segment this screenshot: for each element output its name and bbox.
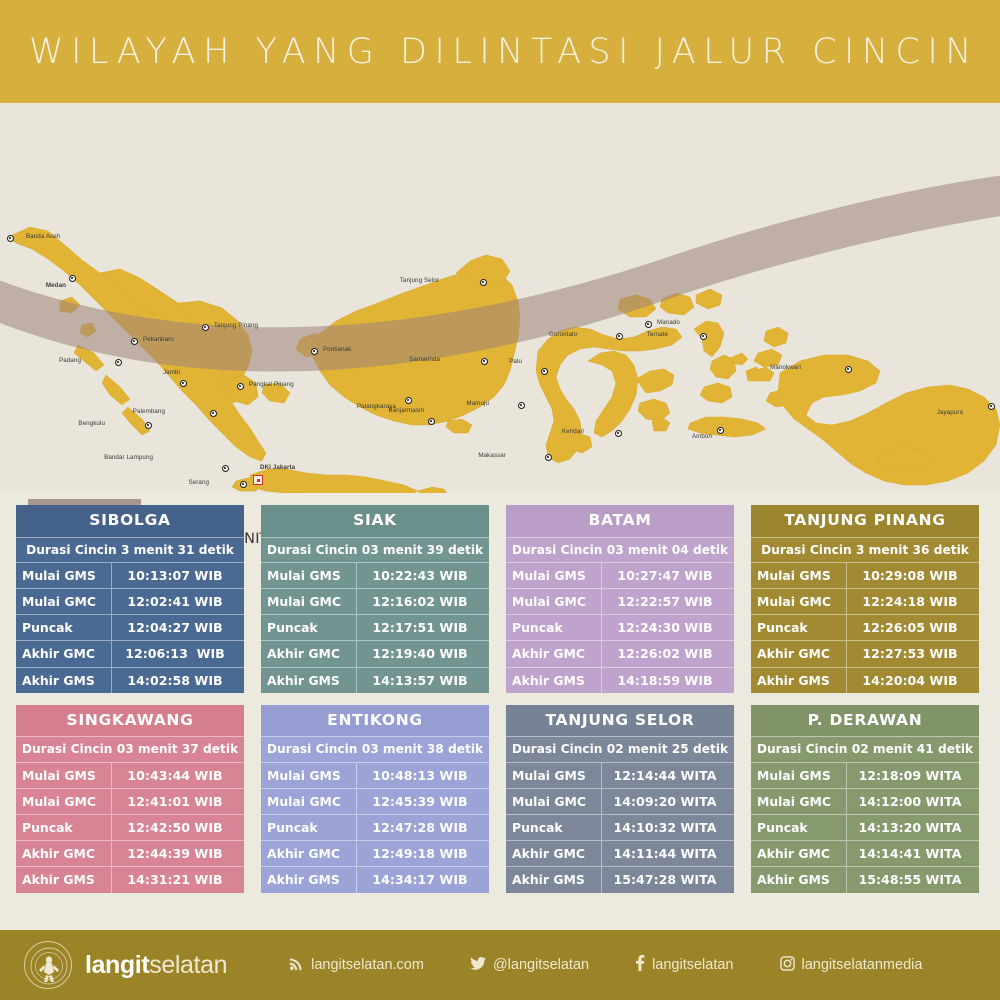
city-timing-card: TANJUNG SELORDurasi Cincin 02 menit 25 d… bbox=[506, 705, 734, 893]
card-row-value: 14:34:17 WIB bbox=[356, 867, 489, 892]
card-row-value: 14:13:57 WIB bbox=[356, 668, 489, 693]
city-marker bbox=[180, 380, 187, 387]
card-row: Akhir GMS15:48:55 WITA bbox=[751, 866, 979, 892]
card-row-value: 14:09:20 WITA bbox=[601, 789, 734, 814]
card-row: Akhir GMS14:31:21 WIB bbox=[16, 866, 244, 892]
city-label: Ternate bbox=[647, 332, 668, 338]
card-row-value: 14:18:59 WIB bbox=[601, 668, 734, 693]
social-link-rss[interactable]: langitselatan.com bbox=[289, 956, 424, 975]
card-row: Puncak12:47:28 WIB bbox=[261, 814, 489, 840]
card-row-label: Puncak bbox=[506, 815, 601, 840]
card-row-label: Akhir GMC bbox=[16, 641, 111, 666]
city-label: Samarinda bbox=[409, 357, 440, 363]
card-duration: Durasi Cincin 3 menit 36 detik bbox=[751, 537, 979, 562]
page-footer: langitselatan langitselatan.com@langitse… bbox=[0, 930, 1000, 1000]
card-row-label: Akhir GMC bbox=[506, 641, 601, 666]
card-row-value: 12:04:27 WIB bbox=[111, 615, 244, 640]
card-row-value: 10:13:07 WIB bbox=[111, 563, 244, 588]
city-marker bbox=[131, 338, 138, 345]
card-row-value: 12:14:44 WITA bbox=[601, 763, 734, 788]
city-label: Jayapura bbox=[937, 410, 963, 416]
seal-icon bbox=[25, 942, 73, 990]
card-row-value: 14:13:20 WITA bbox=[846, 815, 979, 840]
card-row: Puncak14:13:20 WITA bbox=[751, 814, 979, 840]
city-label: Pekanbaru bbox=[143, 337, 174, 343]
city-marker bbox=[616, 333, 623, 340]
instagram-icon bbox=[780, 956, 795, 975]
card-row: Akhir GMC12:44:39 WIB bbox=[16, 840, 244, 866]
card-row: Mulai GMS12:18:09 WITA bbox=[751, 762, 979, 788]
card-duration: Durasi Cincin 02 menit 41 detik bbox=[751, 736, 979, 761]
card-row: Akhir GMS14:18:59 WIB bbox=[506, 667, 734, 693]
card-row-label: Mulai GMC bbox=[16, 789, 111, 814]
city-label: Medan bbox=[46, 283, 66, 289]
indonesia-map: Banda AcehMedanPekanbaruPadangTanjung Pi… bbox=[0, 103, 1000, 493]
card-row: Akhir GMS14:20:04 WIB bbox=[751, 667, 979, 693]
city-marker bbox=[7, 235, 14, 242]
city-label: Manokwari bbox=[770, 365, 801, 371]
city-marker bbox=[428, 418, 435, 425]
card-row-value: 14:14:41 WITA bbox=[846, 841, 979, 866]
social-links: langitselatan.com@langitselatanlangitsel… bbox=[289, 955, 922, 975]
logo-main-text: langit bbox=[85, 951, 149, 979]
card-row: Akhir GMC14:11:44 WITA bbox=[506, 840, 734, 866]
city-timing-card: P. DERAWANDurasi Cincin 02 menit 41 deti… bbox=[751, 705, 979, 893]
card-row-label: Akhir GMS bbox=[751, 867, 846, 892]
card-row-value: 12:22:57 WIB bbox=[601, 589, 734, 614]
city-label: Bengkulu bbox=[78, 421, 105, 427]
card-row-value: 14:02:58 WIB bbox=[111, 668, 244, 693]
city-marker bbox=[405, 397, 412, 404]
card-row: Puncak12:24:30 WIB bbox=[506, 614, 734, 640]
card-row-label: Akhir GMS bbox=[261, 867, 356, 892]
card-row-value: 12:19:40 WIB bbox=[356, 641, 489, 666]
card-row-value: 12:24:30 WIB bbox=[601, 615, 734, 640]
card-row: Mulai GMC12:16:02 WIB bbox=[261, 588, 489, 614]
card-row-label: Mulai GMS bbox=[261, 763, 356, 788]
logo-sub-text: selatan bbox=[149, 951, 227, 979]
city-label: Mamuju bbox=[466, 401, 489, 407]
capital-marker-dki-jakarta bbox=[253, 475, 263, 485]
city-label: Pontianak bbox=[323, 347, 351, 353]
card-row-label: Akhir GMC bbox=[16, 841, 111, 866]
city-marker bbox=[237, 383, 244, 390]
card-row-label: Mulai GMS bbox=[506, 563, 601, 588]
card-row: Akhir GMS14:02:58 WIB bbox=[16, 667, 244, 693]
card-row-value: 15:47:28 WITA bbox=[601, 867, 734, 892]
card-row: Mulai GMC12:41:01 WIB bbox=[16, 788, 244, 814]
card-row-value: 12:06:13 WIB bbox=[111, 641, 244, 666]
city-marker bbox=[145, 422, 152, 429]
social-link-label: langitselatanmedia bbox=[802, 957, 923, 973]
city-marker bbox=[988, 403, 995, 410]
card-row-value: 12:02:41 WIB bbox=[111, 589, 244, 614]
social-link-instagram[interactable]: langitselatanmedia bbox=[780, 956, 923, 975]
card-row: Akhir GMS14:34:17 WIB bbox=[261, 866, 489, 892]
page-title: WILAYAH YANG DILINTASI JALUR CINCIN bbox=[21, 32, 979, 72]
card-row-label: Puncak bbox=[16, 615, 111, 640]
card-row: Akhir GMS14:13:57 WIB bbox=[261, 667, 489, 693]
rss-icon bbox=[289, 956, 304, 975]
city-label: Ambon bbox=[692, 434, 712, 440]
city-label: DKI Jakarta bbox=[260, 465, 295, 471]
city-marker bbox=[700, 333, 707, 340]
card-duration: Durasi Cincin 03 menit 39 detik bbox=[261, 537, 489, 562]
city-label: Palembang bbox=[133, 409, 165, 415]
card-row-label: Akhir GMS bbox=[506, 668, 601, 693]
card-row-label: Mulai GMC bbox=[506, 789, 601, 814]
card-row-value: 10:27:47 WIB bbox=[601, 563, 734, 588]
city-marker bbox=[615, 430, 622, 437]
card-row: Akhir GMC12:49:18 WIB bbox=[261, 840, 489, 866]
card-row-value: 10:29:08 WIB bbox=[846, 563, 979, 588]
card-title: SIAK bbox=[261, 505, 489, 537]
card-row: Mulai GMC14:09:20 WITA bbox=[506, 788, 734, 814]
city-marker bbox=[518, 402, 525, 409]
card-row-label: Puncak bbox=[261, 815, 356, 840]
card-row: Akhir GMC12:06:13 WIB bbox=[16, 640, 244, 666]
card-row-label: Akhir GMC bbox=[506, 841, 601, 866]
city-marker bbox=[541, 368, 548, 375]
langitselatan-seal-logo bbox=[24, 941, 72, 989]
card-row: Mulai GMS10:43:44 WIB bbox=[16, 762, 244, 788]
city-timing-card: SIAKDurasi Cincin 03 menit 39 detikMulai… bbox=[261, 505, 489, 693]
city-marker bbox=[69, 275, 76, 282]
social-link-label: langitselatan.com bbox=[311, 957, 424, 973]
city-timing-card: SIBOLGADurasi Cincin 3 menit 31 detikMul… bbox=[16, 505, 244, 693]
city-label: Tanjung Pinang bbox=[214, 323, 258, 329]
card-duration: Durasi Cincin 03 menit 04 detik bbox=[506, 537, 734, 562]
card-title: BATAM bbox=[506, 505, 734, 537]
card-row-label: Mulai GMS bbox=[506, 763, 601, 788]
card-title: ENTIKONG bbox=[261, 705, 489, 737]
card-title: SINGKAWANG bbox=[16, 705, 244, 737]
city-label: Padang bbox=[59, 358, 81, 364]
city-marker bbox=[545, 454, 552, 461]
city-marker bbox=[311, 348, 318, 355]
card-row-value: 14:31:21 WIB bbox=[111, 867, 244, 892]
card-title: TANJUNG SELOR bbox=[506, 705, 734, 737]
card-duration: Durasi Cincin 02 menit 25 detik bbox=[506, 736, 734, 761]
city-label: Serang bbox=[188, 480, 209, 486]
card-title: SIBOLGA bbox=[16, 505, 244, 537]
social-link-twitter[interactable]: @langitselatan bbox=[470, 956, 589, 975]
card-row-label: Akhir GMC bbox=[261, 641, 356, 666]
card-title: TANJUNG PINANG bbox=[751, 505, 979, 537]
card-row: Mulai GMS10:27:47 WIB bbox=[506, 562, 734, 588]
page-header: WILAYAH YANG DILINTASI JALUR CINCIN bbox=[0, 0, 1000, 103]
card-row-label: Akhir GMS bbox=[16, 867, 111, 892]
facebook-icon bbox=[635, 955, 645, 975]
card-row: Akhir GMC12:19:40 WIB bbox=[261, 640, 489, 666]
card-row: Akhir GMC12:26:02 WIB bbox=[506, 640, 734, 666]
card-row-label: Puncak bbox=[506, 615, 601, 640]
infographic-page: WILAYAH YANG DILINTASI JALUR CINCIN bbox=[0, 0, 1000, 1000]
card-row-label: Mulai GMC bbox=[506, 589, 601, 614]
city-label: Bandar Lampung bbox=[104, 455, 153, 461]
langitselatan-wordmark: langitselatan bbox=[85, 951, 227, 980]
city-marker bbox=[202, 324, 209, 331]
card-row: Akhir GMS15:47:28 WITA bbox=[506, 866, 734, 892]
card-row-label: Mulai GMC bbox=[751, 589, 846, 614]
card-row-value: 12:27:53 WIB bbox=[846, 641, 979, 666]
city-label: Jambi bbox=[163, 370, 180, 376]
card-row-value: 12:24:18 WIB bbox=[846, 589, 979, 614]
card-row: Mulai GMC12:02:41 WIB bbox=[16, 588, 244, 614]
card-duration: Durasi Cincin 03 menit 38 detik bbox=[261, 736, 489, 761]
card-row: Puncak14:10:32 WITA bbox=[506, 814, 734, 840]
card-row-value: 10:22:43 WIB bbox=[356, 563, 489, 588]
city-marker bbox=[210, 410, 217, 417]
social-link-facebook[interactable]: langitselatan bbox=[635, 955, 733, 975]
card-row-value: 12:49:18 WIB bbox=[356, 841, 489, 866]
card-row-label: Akhir GMC bbox=[261, 841, 356, 866]
city-label: Manado bbox=[657, 320, 680, 326]
card-row-label: Puncak bbox=[751, 815, 846, 840]
card-row-label: Mulai GMS bbox=[751, 563, 846, 588]
city-marker bbox=[845, 366, 852, 373]
city-marker bbox=[240, 481, 247, 488]
card-row-value: 12:45:39 WIB bbox=[356, 789, 489, 814]
card-row-label: Mulai GMS bbox=[16, 563, 111, 588]
city-marker bbox=[717, 427, 724, 434]
card-row-value: 12:44:39 WIB bbox=[111, 841, 244, 866]
map-graphic bbox=[0, 103, 1000, 493]
card-row-value: 12:41:01 WIB bbox=[111, 789, 244, 814]
card-row: Puncak12:42:50 WIB bbox=[16, 814, 244, 840]
card-row: Mulai GMC12:45:39 WIB bbox=[261, 788, 489, 814]
card-row-value: 14:12:00 WITA bbox=[846, 789, 979, 814]
card-row: Mulai GMS12:14:44 WITA bbox=[506, 762, 734, 788]
card-row-label: Akhir GMS bbox=[506, 867, 601, 892]
city-label: Makassar bbox=[478, 453, 506, 459]
card-row: Mulai GMS10:29:08 WIB bbox=[751, 562, 979, 588]
card-row-value: 10:48:13 WIB bbox=[356, 763, 489, 788]
card-row-label: Akhir GMC bbox=[751, 641, 846, 666]
social-link-label: @langitselatan bbox=[493, 957, 589, 973]
card-row-value: 12:17:51 WIB bbox=[356, 615, 489, 640]
card-duration: Durasi Cincin 3 menit 31 detik bbox=[16, 537, 244, 562]
city-marker bbox=[222, 465, 229, 472]
city-timing-card: TANJUNG PINANGDurasi Cincin 3 menit 36 d… bbox=[751, 505, 979, 693]
city-timing-card: SINGKAWANGDurasi Cincin 03 menit 37 deti… bbox=[16, 705, 244, 893]
card-row: Mulai GMS10:22:43 WIB bbox=[261, 562, 489, 588]
card-row-label: Akhir GMS bbox=[261, 668, 356, 693]
city-label: Tanjung Selor bbox=[400, 278, 439, 284]
card-row-value: 12:42:50 WIB bbox=[111, 815, 244, 840]
card-row-label: Mulai GMS bbox=[751, 763, 846, 788]
card-row-label: Puncak bbox=[261, 615, 356, 640]
city-marker bbox=[480, 279, 487, 286]
card-row-label: Mulai GMS bbox=[16, 763, 111, 788]
card-row-value: 12:26:05 WIB bbox=[846, 615, 979, 640]
card-row-value: 12:18:09 WITA bbox=[846, 763, 979, 788]
city-timing-card: BATAMDurasi Cincin 03 menit 04 detikMula… bbox=[506, 505, 734, 693]
card-row-label: Mulai GMC bbox=[751, 789, 846, 814]
city-marker bbox=[115, 359, 122, 366]
card-row: Mulai GMC14:12:00 WITA bbox=[751, 788, 979, 814]
card-row-label: Mulai GMC bbox=[261, 789, 356, 814]
card-title: P. DERAWAN bbox=[751, 705, 979, 737]
card-row-value: 14:10:32 WITA bbox=[601, 815, 734, 840]
card-row: Mulai GMC12:24:18 WIB bbox=[751, 588, 979, 614]
card-row-label: Akhir GMS bbox=[751, 668, 846, 693]
card-row: Puncak12:26:05 WIB bbox=[751, 614, 979, 640]
card-row-value: 12:47:28 WIB bbox=[356, 815, 489, 840]
city-label: Gorontalo bbox=[549, 332, 577, 338]
city-timing-cards: SIBOLGADurasi Cincin 3 menit 31 detikMul… bbox=[16, 505, 984, 893]
card-row: Mulai GMS10:13:07 WIB bbox=[16, 562, 244, 588]
card-row: Akhir GMC12:27:53 WIB bbox=[751, 640, 979, 666]
card-row: Puncak12:04:27 WIB bbox=[16, 614, 244, 640]
city-label: Pangkal Pinang bbox=[249, 382, 294, 388]
card-row: Puncak12:17:51 WIB bbox=[261, 614, 489, 640]
card-row-label: Akhir GMC bbox=[751, 841, 846, 866]
card-row-label: Mulai GMC bbox=[16, 589, 111, 614]
card-row-label: Mulai GMS bbox=[261, 563, 356, 588]
card-row-label: Mulai GMC bbox=[261, 589, 356, 614]
city-marker bbox=[481, 358, 488, 365]
card-row-value: 14:11:44 WITA bbox=[601, 841, 734, 866]
city-label: Kendari bbox=[562, 429, 584, 435]
card-row-value: 12:16:02 WIB bbox=[356, 589, 489, 614]
city-label: Banda Aceh bbox=[26, 234, 60, 240]
card-row-value: 14:20:04 WIB bbox=[846, 668, 979, 693]
city-label: Palu bbox=[509, 359, 522, 365]
card-row-value: 10:43:44 WIB bbox=[111, 763, 244, 788]
card-row-value: 15:48:55 WITA bbox=[846, 867, 979, 892]
card-row-label: Akhir GMS bbox=[16, 668, 111, 693]
city-marker bbox=[645, 321, 652, 328]
twitter-icon bbox=[470, 956, 486, 975]
card-row-label: Puncak bbox=[751, 615, 846, 640]
card-row: Mulai GMS10:48:13 WIB bbox=[261, 762, 489, 788]
card-row: Mulai GMC12:22:57 WIB bbox=[506, 588, 734, 614]
city-label: Banjarmasin bbox=[389, 408, 425, 414]
social-link-label: langitselatan bbox=[652, 957, 733, 973]
card-row-value: 12:26:02 WIB bbox=[601, 641, 734, 666]
card-row-label: Puncak bbox=[16, 815, 111, 840]
card-row: Akhir GMC14:14:41 WITA bbox=[751, 840, 979, 866]
card-duration: Durasi Cincin 03 menit 37 detik bbox=[16, 736, 244, 761]
city-timing-card: ENTIKONGDurasi Cincin 03 menit 38 detikM… bbox=[261, 705, 489, 893]
